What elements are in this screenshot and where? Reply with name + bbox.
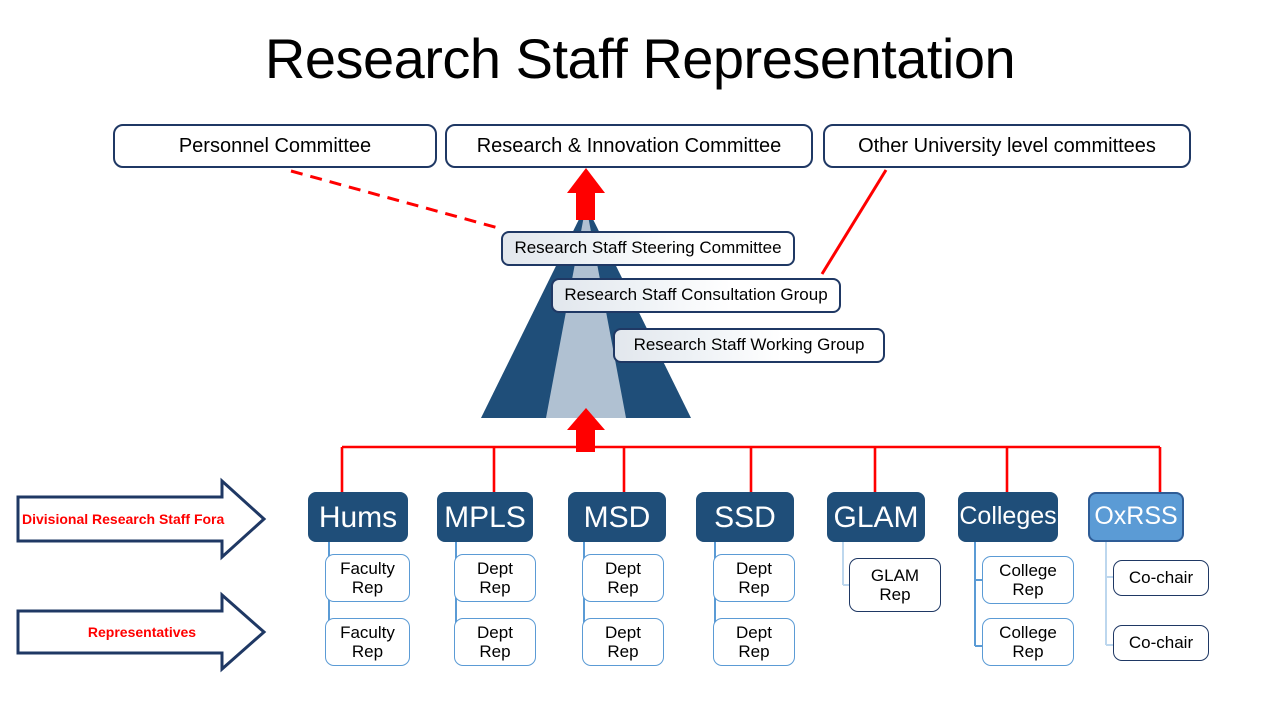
division-label: Colleges bbox=[959, 503, 1056, 531]
division-ssd[interactable]: SSD bbox=[696, 492, 794, 542]
division-label: GLAM bbox=[833, 501, 918, 534]
rep-box-ssd-2[interactable]: Dept Rep bbox=[713, 618, 795, 666]
slide-canvas: Research Staff Representation bbox=[0, 0, 1280, 720]
rep-line-2: Rep bbox=[352, 642, 383, 661]
division-msd[interactable]: MSD bbox=[568, 492, 666, 542]
rep-line-1: Dept bbox=[605, 559, 641, 578]
rep-line-1: Co-chair bbox=[1129, 568, 1193, 587]
rep-line-2: Rep bbox=[879, 585, 910, 604]
top-committee-label: Other University level committees bbox=[858, 135, 1156, 157]
division-colleges[interactable]: Colleges bbox=[958, 492, 1058, 542]
rep-box-msd-2[interactable]: Dept Rep bbox=[582, 618, 664, 666]
group-steering-committee[interactable]: Research Staff Steering Committee bbox=[501, 231, 795, 266]
rep-box-glam-1[interactable]: GLAM Rep bbox=[849, 558, 941, 612]
rep-line-1: College bbox=[999, 561, 1057, 580]
group-consultation-group[interactable]: Research Staff Consultation Group bbox=[551, 278, 841, 313]
group-label: Research Staff Working Group bbox=[634, 336, 865, 355]
rep-line-2: Rep bbox=[738, 642, 769, 661]
rep-box-colleges-2[interactable]: College Rep bbox=[982, 618, 1074, 666]
division-glam[interactable]: GLAM bbox=[827, 492, 925, 542]
rep-line-1: College bbox=[999, 623, 1057, 642]
rep-box-msd-1[interactable]: Dept Rep bbox=[582, 554, 664, 602]
rep-box-colleges-1[interactable]: College Rep bbox=[982, 556, 1074, 604]
rep-line-1: Dept bbox=[477, 559, 513, 578]
rep-line-2: Rep bbox=[607, 642, 638, 661]
rep-box-oxrss-1[interactable]: Co-chair bbox=[1113, 560, 1209, 596]
rep-box-oxrss-2[interactable]: Co-chair bbox=[1113, 625, 1209, 661]
rep-box-hums-1[interactable]: Faculty Rep bbox=[325, 554, 410, 602]
rep-line-2: Rep bbox=[1012, 580, 1043, 599]
division-label: Hums bbox=[319, 501, 397, 534]
rep-box-ssd-1[interactable]: Dept Rep bbox=[713, 554, 795, 602]
division-mpls[interactable]: MPLS bbox=[437, 492, 533, 542]
rep-box-mpls-1[interactable]: Dept Rep bbox=[454, 554, 536, 602]
rep-line-2: Rep bbox=[1012, 642, 1043, 661]
rep-line-1: Dept bbox=[477, 623, 513, 642]
top-committee-label: Personnel Committee bbox=[179, 135, 371, 157]
rep-box-mpls-2[interactable]: Dept Rep bbox=[454, 618, 536, 666]
rep-line-2: Rep bbox=[738, 578, 769, 597]
rep-line-1: Faculty bbox=[340, 623, 395, 642]
top-committee-other-university[interactable]: Other University level committees bbox=[823, 124, 1191, 168]
rep-line-2: Rep bbox=[607, 578, 638, 597]
group-label: Research Staff Steering Committee bbox=[514, 239, 781, 258]
division-label: MSD bbox=[584, 501, 651, 534]
rep-line-1: Faculty bbox=[340, 559, 395, 578]
division-oxrss[interactable]: OxRSS bbox=[1088, 492, 1184, 542]
rep-line-2: Rep bbox=[479, 578, 510, 597]
rep-box-hums-2[interactable]: Faculty Rep bbox=[325, 618, 410, 666]
rep-line-1: Dept bbox=[736, 559, 772, 578]
top-committee-research-innovation[interactable]: Research & Innovation Committee bbox=[445, 124, 813, 168]
rep-line-2: Rep bbox=[352, 578, 383, 597]
rep-line-1: Dept bbox=[736, 623, 772, 642]
division-label: SSD bbox=[714, 501, 776, 534]
rep-line-2: Rep bbox=[479, 642, 510, 661]
group-label: Research Staff Consultation Group bbox=[564, 286, 827, 305]
group-working-group[interactable]: Research Staff Working Group bbox=[613, 328, 885, 363]
division-label: OxRSS bbox=[1094, 503, 1177, 531]
rep-line-1: GLAM bbox=[871, 566, 919, 585]
top-committee-label: Research & Innovation Committee bbox=[477, 135, 782, 157]
side-label-representatives: Representatives bbox=[22, 624, 262, 640]
division-label: MPLS bbox=[444, 501, 526, 534]
rep-line-1: Dept bbox=[605, 623, 641, 642]
side-label-text: Divisional Research Staff Fora bbox=[22, 511, 224, 527]
side-label-divisional-fora: Divisional Research Staff Fora bbox=[22, 511, 262, 527]
top-committee-personnel[interactable]: Personnel Committee bbox=[113, 124, 437, 168]
side-label-text: Representatives bbox=[88, 624, 196, 640]
division-hums[interactable]: Hums bbox=[308, 492, 408, 542]
rep-line-1: Co-chair bbox=[1129, 633, 1193, 652]
